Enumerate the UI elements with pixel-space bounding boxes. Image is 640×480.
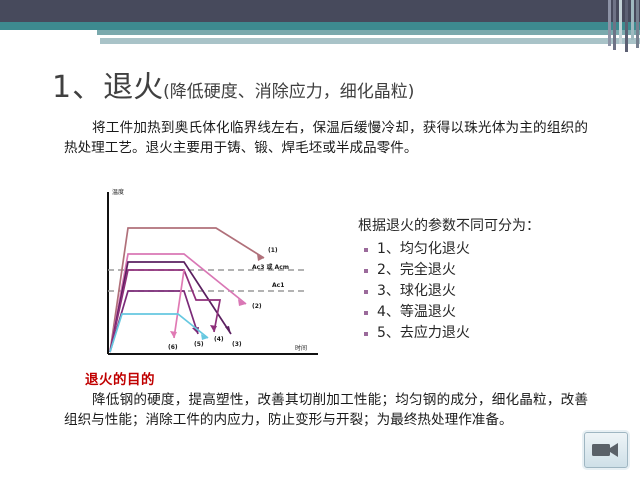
header-teal-bar [0, 22, 640, 30]
header-stripe-3 [619, 0, 622, 44]
video-play-button[interactable] [584, 432, 628, 468]
title-number: 1、 [52, 70, 103, 105]
title-main: 退火 [103, 70, 163, 105]
chart-curve-5 [110, 291, 198, 352]
chart-curve-6b [174, 270, 184, 338]
body-paragraph-bottom: 降低钢的硬度，提高塑性，改善其切削加工性能；均匀钢的成分，细化晶粒，改善组织与性… [64, 390, 588, 430]
chart-label-3: (3) [232, 341, 242, 348]
list-item-label: 1、均匀化退火 [377, 239, 470, 260]
list-heading: 根据退火的参数不同可分为： [358, 216, 602, 237]
bullet-marker-icon [364, 311, 368, 315]
bullet-marker-icon [364, 332, 368, 336]
section-heading-purpose: 退火的目的 [85, 368, 155, 388]
chart-label-2: (2) [252, 303, 262, 310]
annealing-types-list: 根据退火的参数不同可分为： 1、均匀化退火 2、完全退火 3、球化退火 4、等温… [358, 216, 602, 344]
header-stripe-2 [613, 0, 616, 50]
header-gap-2 [233, 44, 640, 47]
list-item[interactable]: 1、均匀化退火 [358, 239, 602, 260]
chart-arrow-4 [210, 325, 217, 332]
chart-svg [86, 186, 326, 366]
title-subtitle: (降低硬度、消除应力，细化晶粒) [163, 82, 414, 102]
bullet-marker-icon [364, 248, 368, 252]
bullet-marker-icon [364, 269, 368, 273]
list-item-label: 2、完全退火 [377, 260, 456, 281]
chart-ylabel: 温度 [112, 187, 124, 196]
header-stripe-6 [636, 0, 639, 48]
chart-arrow-3 [225, 326, 231, 334]
chart-label-5: (5) [194, 341, 204, 348]
chart-curve-1 [110, 228, 264, 352]
list-item-label: 4、等温退火 [377, 302, 456, 323]
chart-label-6: (6) [168, 344, 178, 351]
list-item-label: 3、球化退火 [377, 281, 456, 302]
list-item-label: 5、去应力退火 [377, 323, 470, 344]
chart-arrow-6b [170, 331, 177, 338]
chart-curve-3 [110, 262, 231, 352]
chart-curve-4 [110, 270, 220, 352]
chart-label-4: (4) [214, 336, 224, 343]
slide-canvas: 1、退火(降低硬度、消除应力，细化晶粒) 将工件加热到奥氏体化临界线左右，保温后… [0, 0, 640, 480]
chart-ref-label-ac1: Ac1 [272, 282, 284, 289]
header-stripe-5 [631, 0, 634, 40]
bullet-marker-icon [364, 290, 368, 294]
list-item[interactable]: 2、完全退火 [358, 260, 602, 281]
header-stripe-4 [625, 0, 628, 52]
annealing-temperature-chart: 温度 时间 (1) Ac3 或 Acm Ac1 (2) (3) (4) (5) … [86, 186, 326, 366]
chart-xlabel: 时间 [295, 343, 307, 352]
chart-label-1: (1) [268, 247, 278, 254]
header-dark-bar [0, 0, 640, 22]
list-item[interactable]: 4、等温退火 [358, 302, 602, 323]
list-item[interactable]: 5、去应力退火 [358, 323, 602, 344]
body-paragraph-top: 将工件加热到奥氏体化临界线左右，保温后缓慢冷却，获得以珠光体为主的组织的热处理工… [64, 118, 588, 158]
list-item[interactable]: 3、球化退火 [358, 281, 602, 302]
slide-title: 1、退火(降低硬度、消除应力，细化晶粒) [52, 62, 414, 106]
header-stripe-1 [608, 0, 611, 46]
chart-curve-2 [110, 254, 246, 352]
video-camera-icon [592, 441, 620, 459]
chart-ref-label-ac3: Ac3 或 Acm [252, 262, 289, 271]
